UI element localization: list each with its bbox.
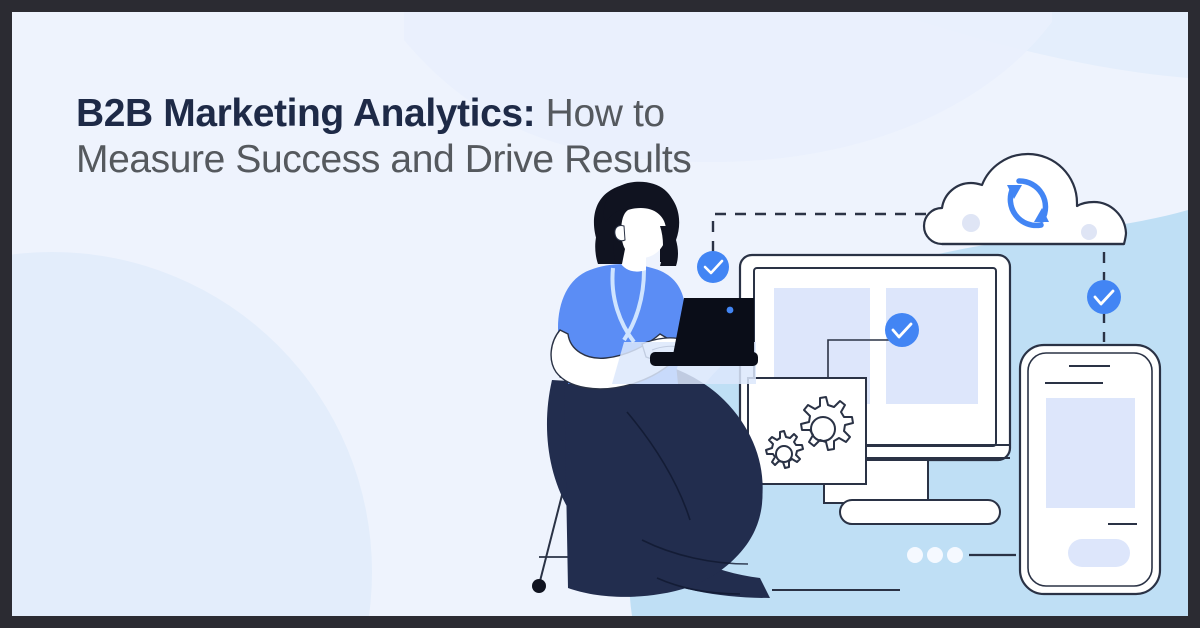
ear — [615, 225, 625, 240]
phone-content-block — [1046, 398, 1135, 508]
cloud-dot-left — [962, 214, 980, 232]
smartphone — [1020, 345, 1160, 594]
dot-2 — [927, 547, 943, 563]
dot-3 — [947, 547, 963, 563]
dot-1 — [907, 547, 923, 563]
headline-strong: B2B Marketing Analytics: — [76, 92, 535, 135]
page-title: B2B Marketing Analytics: How to Measure … — [76, 91, 876, 181]
check-badge-monitor — [885, 313, 919, 347]
headline-light-1: How to — [535, 92, 664, 135]
banner-root: B2B Marketing Analytics: How to Measure … — [0, 0, 1200, 628]
settings-card — [748, 378, 866, 484]
check-badge-phone — [1087, 280, 1121, 314]
laptop-screen — [672, 298, 754, 360]
check-badge-laptop — [697, 251, 729, 283]
stick-tip-dot — [532, 579, 546, 593]
hair-side-left — [595, 224, 616, 264]
headline-line-1: B2B Marketing Analytics: How to — [76, 91, 876, 136]
laptop-logo-dot — [727, 307, 734, 314]
monitor-base — [840, 500, 1000, 524]
phone-cta-button — [1068, 539, 1130, 567]
headline-line-2: Measure Success and Drive Results — [76, 137, 876, 182]
laptop-base — [650, 352, 758, 366]
cloud-dot-right — [1081, 224, 1097, 240]
